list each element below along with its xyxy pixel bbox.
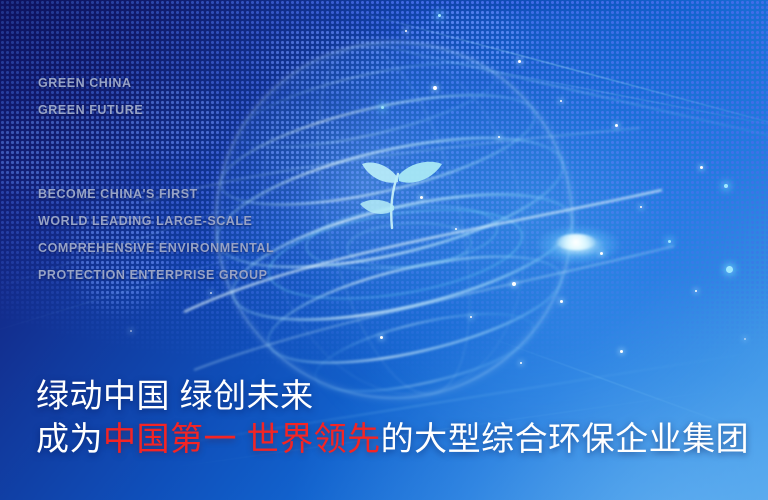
slogan-line-3: COMPREHENSIVE ENVIRONMENTAL <box>38 241 274 255</box>
slogan-line-2: WORLD LEADING LARGE-SCALE <box>38 214 252 228</box>
hero-banner: GREEN CHINA GREEN FUTURE BECOME CHINA'S … <box>0 0 768 500</box>
headline-line-1: 绿动中国 绿创未来 <box>36 369 314 417</box>
headline-suffix: 的大型综合环保企业集团 <box>381 420 750 457</box>
slogan-line-1: BECOME CHINA'S FIRST <box>38 187 198 201</box>
tagline-line-1: GREEN CHINA <box>38 76 132 90</box>
headline-prefix: 成为 <box>36 420 103 457</box>
tagline-line-2: GREEN FUTURE <box>38 103 143 117</box>
slogan-line-4: PROTECTION ENTERPRISE GROUP <box>38 268 267 282</box>
headline-highlight: 中国第一 世界领先 <box>103 420 381 457</box>
headline-line-2: 成为中国第一 世界领先的大型综合环保企业集团 <box>36 412 749 460</box>
